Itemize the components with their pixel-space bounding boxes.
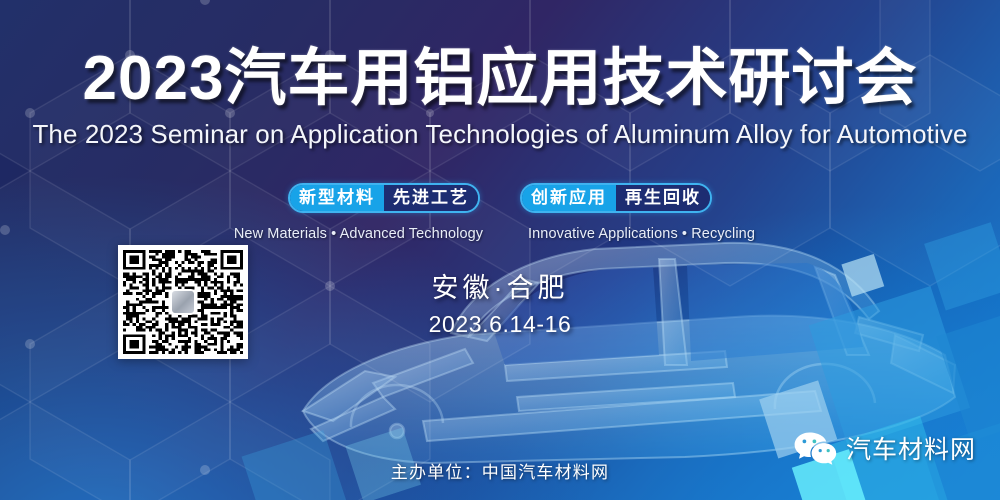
badge-label-advanced-tech: 先进工艺 [384,185,478,211]
page-title-cn: 2023汽车用铝应用技术研讨会 [0,44,1000,114]
sublabel-applications: Innovative Applications • Recycling [517,226,767,242]
topic-badge-materials: 新型材料 先进工艺 [288,183,480,213]
badge-label-new-materials: 新型材料 [290,185,384,211]
badge-label-recycling: 再生回收 [616,185,710,211]
topic-badges: 新型材料 先进工艺 创新应用 再生回收 [0,183,1000,213]
seminar-banner: 2023汽车用铝应用技术研讨会 The 2023 Seminar on Appl… [0,0,1000,500]
page-title-en: The 2023 Seminar on Application Technolo… [0,118,1000,150]
sublabel-materials: New Materials • Advanced Technology [234,226,484,242]
topic-sublabels: New Materials • Advanced Technology Inno… [0,226,1000,242]
badge-label-innovative-app: 创新应用 [522,185,616,211]
wechat-account-name: 汽车材料网 [846,430,976,466]
topic-badge-applications: 创新应用 再生回收 [520,183,712,213]
qr-code[interactable] [118,245,248,359]
wechat-brand[interactable]: 汽车材料网 [793,430,976,466]
title-block: 2023汽车用铝应用技术研讨会 The 2023 Seminar on Appl… [0,44,1000,150]
wechat-icon [793,431,837,465]
qr-center-logo [170,289,196,315]
